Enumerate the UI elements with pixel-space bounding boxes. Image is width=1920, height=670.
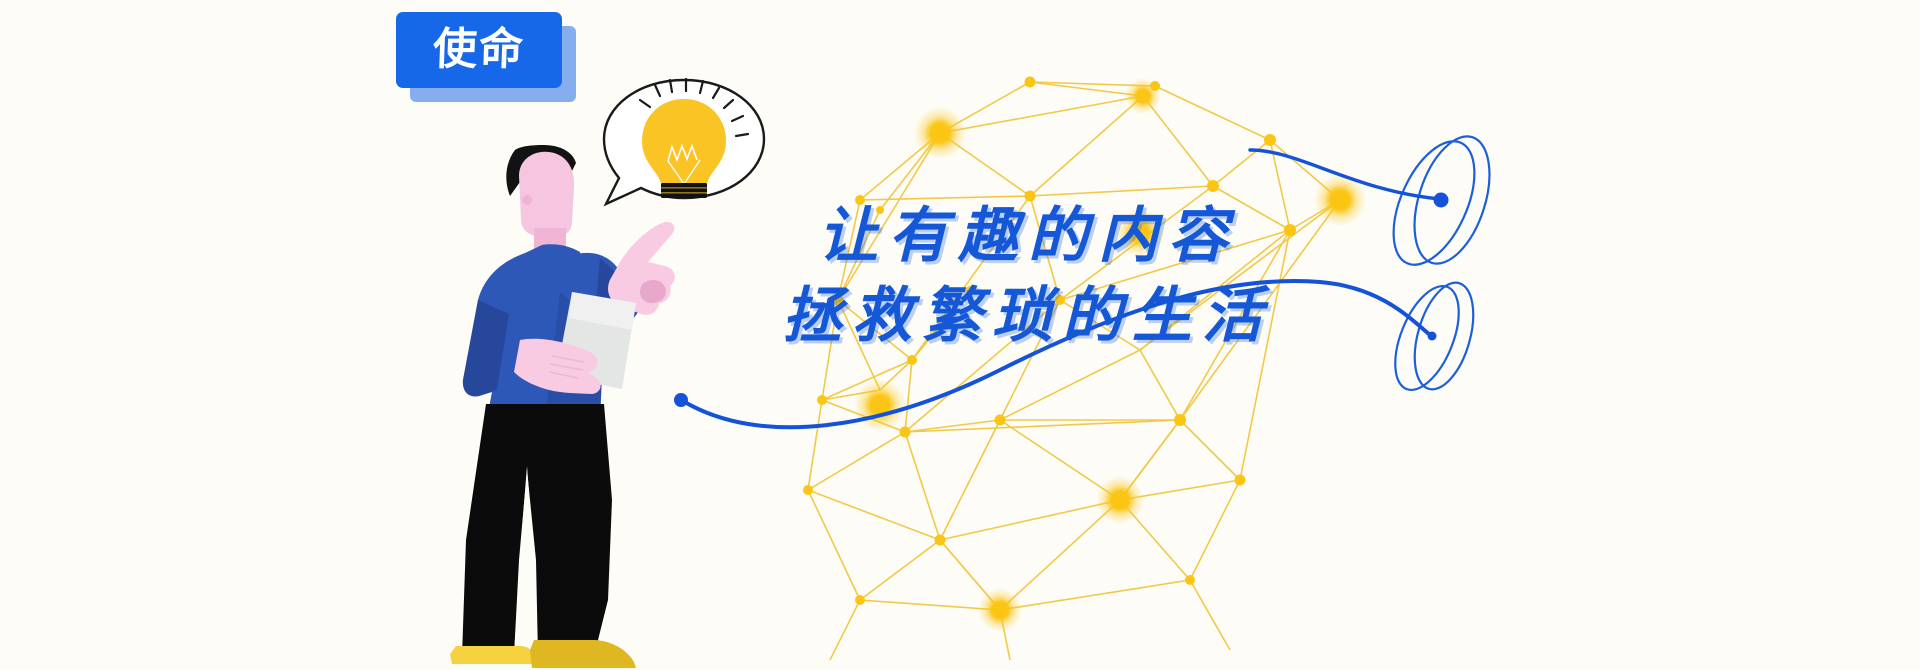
mission-badge: 使命 [396,12,576,104]
badge-plate: 使命 [396,12,562,88]
badge-label: 使命 [432,28,526,72]
banner-canvas: 让有趣的内容 拯救繁琐的生活 使命 [0,0,1920,670]
badge-layer: 使命 [0,0,1920,670]
